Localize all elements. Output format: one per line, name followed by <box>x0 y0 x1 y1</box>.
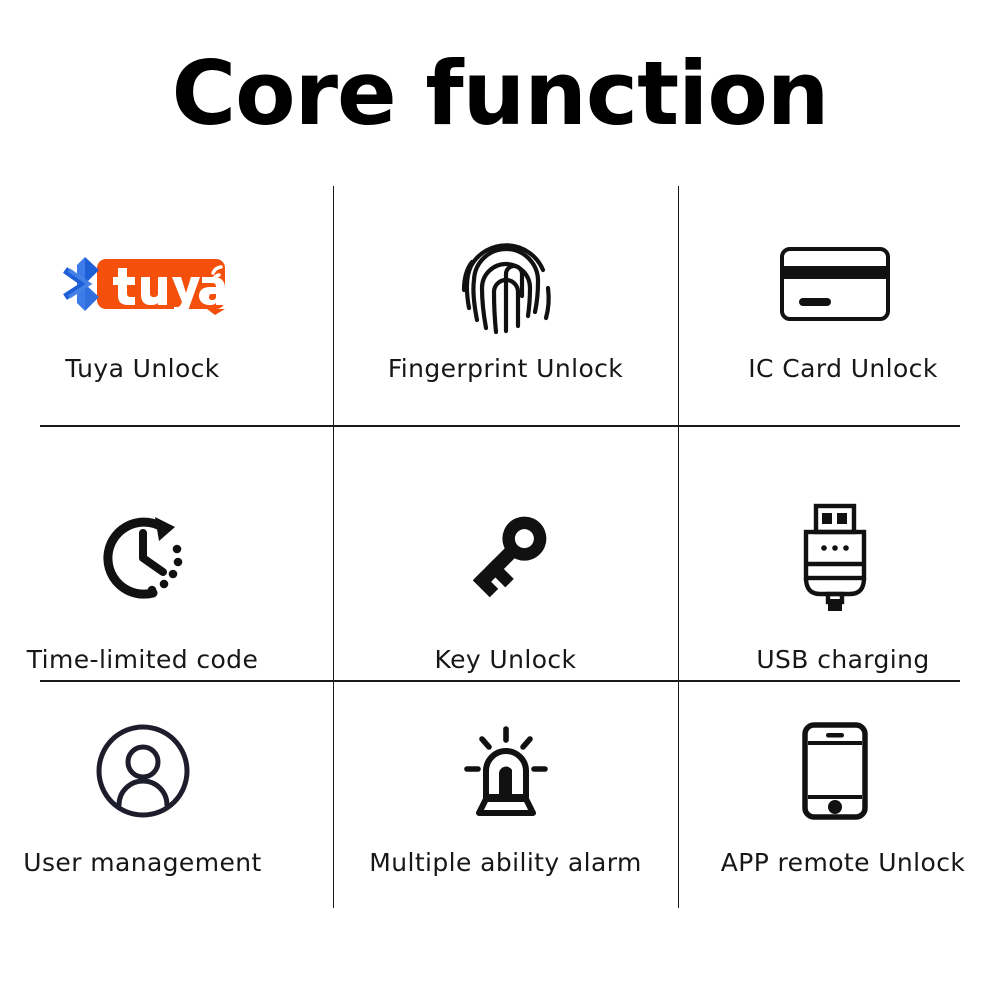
feature-cell-app-remote-unlock: APP remote Unlock <box>678 680 1000 908</box>
feature-cell-multiple-ability-alarm: Multiple ability alarm <box>333 680 678 908</box>
feature-grid: Tuya Unlock Fingerprint Unlock <box>0 186 1000 908</box>
feature-label: Multiple ability alarm <box>369 848 641 877</box>
usb-connector-icon <box>674 425 996 617</box>
key-icon <box>333 425 678 617</box>
clock-arrow-dotted-icon <box>0 425 309 617</box>
feature-label: IC Card Unlock <box>748 354 937 383</box>
feature-cell-ic-card-unlock: IC Card Unlock <box>678 186 1000 425</box>
feature-cell-user-management: User management <box>0 680 333 908</box>
page-title: Core function <box>0 46 1000 143</box>
feature-label: Fingerprint Unlock <box>388 354 623 383</box>
feature-label: User management <box>23 848 261 877</box>
user-circle-icon <box>0 680 309 826</box>
fingerprint-icon <box>333 186 678 340</box>
feature-cell-tuya-unlock: Tuya Unlock <box>0 186 333 425</box>
feature-label: Key Unlock <box>435 645 577 674</box>
feature-label: APP remote Unlock <box>721 848 966 877</box>
tuya-bluetooth-logo <box>0 186 309 340</box>
feature-cell-time-limited-code: Time-limited code <box>0 425 333 680</box>
feature-label: USB charging <box>756 645 929 674</box>
feature-cell-key-unlock: Key Unlock <box>333 425 678 680</box>
ic-card-icon <box>674 186 996 340</box>
feature-cell-usb-charging: USB charging <box>678 425 1000 680</box>
feature-cell-fingerprint-unlock: Fingerprint Unlock <box>333 186 678 425</box>
core-function-page: Core function <box>0 0 1000 1000</box>
alarm-siren-icon <box>333 680 678 826</box>
feature-label: Time-limited code <box>27 645 258 674</box>
smartphone-icon <box>674 680 996 826</box>
feature-label: Tuya Unlock <box>65 354 219 383</box>
